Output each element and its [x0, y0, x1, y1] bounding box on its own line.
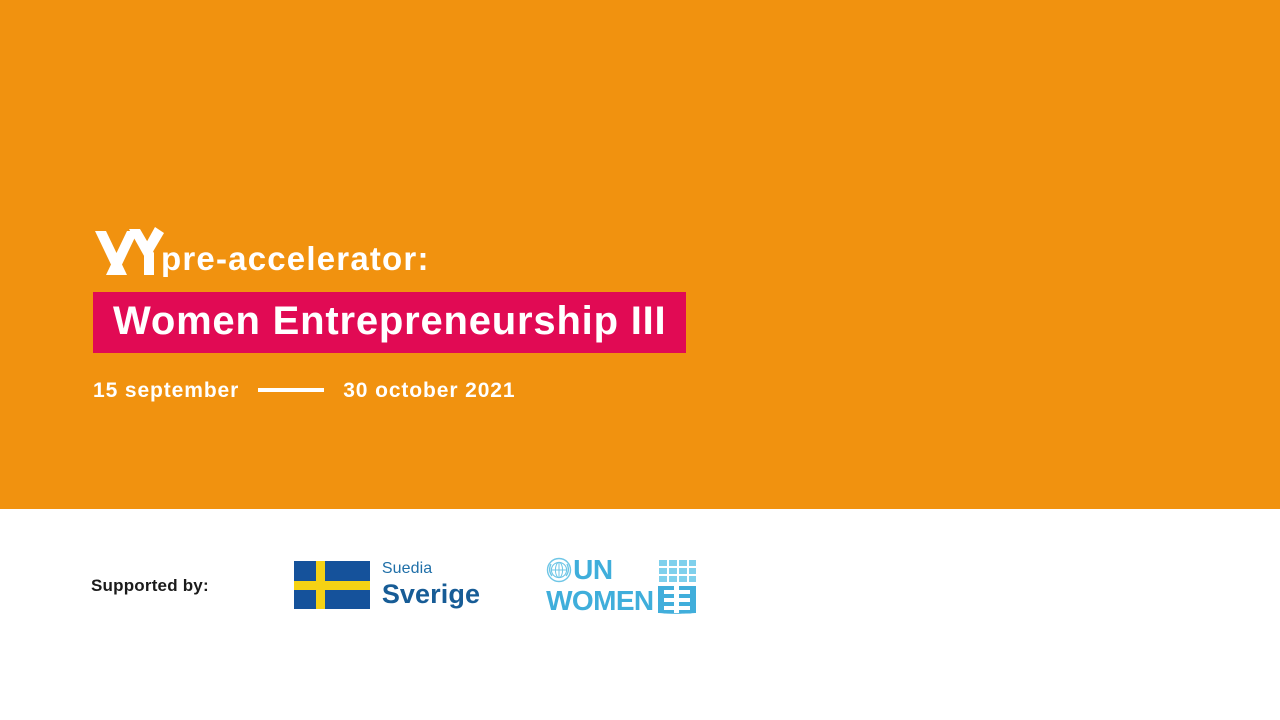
sweden-wordmark: Suedia Sverige — [382, 561, 480, 609]
un-women-top-row: UN — [546, 556, 612, 584]
sweden-label-suedia: Suedia — [382, 561, 480, 578]
start-date: 15 september — [93, 380, 239, 401]
footer-bar: Supported by: Suedia Sverige — [0, 509, 1280, 720]
presentation-slide: pre-accelerator: Women Entrepreneurship … — [0, 0, 1280, 720]
title-lockup: pre-accelerator: Women Entrepreneurship … — [93, 222, 853, 403]
supporters-row: Supported by: Suedia Sverige — [91, 556, 698, 615]
un-women-globe-icon — [656, 557, 698, 615]
end-date: 30 october 2021 — [343, 380, 515, 401]
date-separator-rule — [258, 388, 324, 392]
brand-row: pre-accelerator: — [93, 222, 853, 280]
hero-banner: pre-accelerator: Women Entrepreneurship … — [0, 0, 1280, 509]
xy-monogram-icon — [93, 227, 165, 279]
un-emblem-icon — [546, 557, 572, 583]
headline-banner: Women Entrepreneurship III — [93, 292, 686, 353]
headline-text: Women Entrepreneurship III — [113, 300, 666, 342]
brand-title: pre-accelerator: — [161, 242, 430, 275]
supported-by-label: Supported by: — [91, 577, 209, 594]
un-women-wordmark: UN WOMEN — [546, 556, 653, 615]
un-women-logo: UN WOMEN — [546, 556, 697, 615]
date-range: 15 september 30 october 2021 — [93, 377, 853, 403]
sweden-sverige-logo: Suedia Sverige — [294, 561, 480, 609]
un-women-label-women: WOMEN — [546, 587, 653, 615]
swedish-flag-icon — [294, 561, 370, 609]
un-women-label-un: UN — [573, 556, 612, 584]
sweden-label-sverige: Sverige — [382, 580, 480, 610]
